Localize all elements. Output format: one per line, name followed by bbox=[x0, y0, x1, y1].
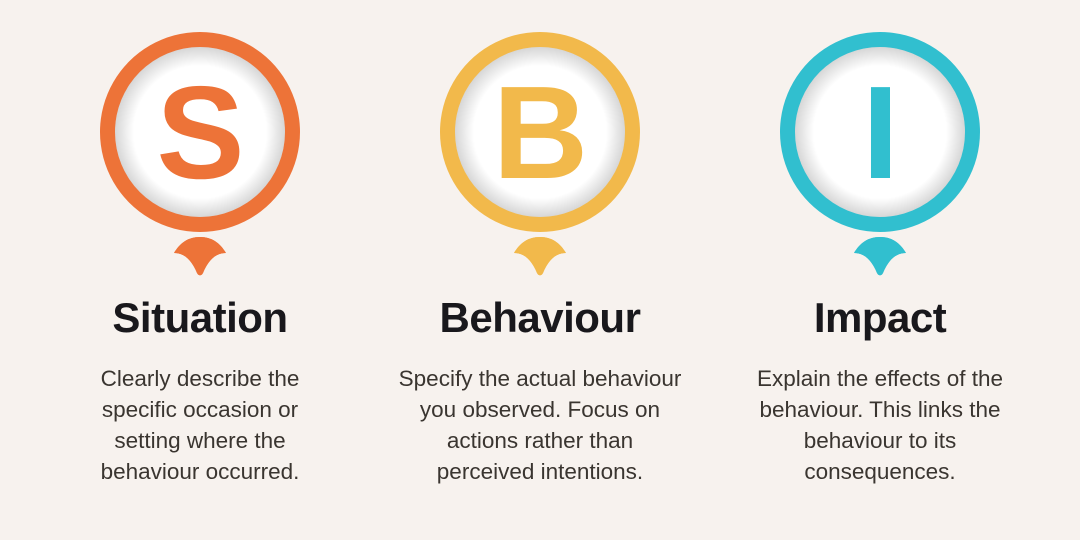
heading-behaviour: Behaviour bbox=[440, 297, 641, 339]
map-pin-marker-icon: S bbox=[80, 25, 320, 275]
map-pin-marker-icon: I bbox=[760, 25, 1000, 275]
pin-impact: I bbox=[760, 25, 1000, 275]
map-pin-marker-icon: B bbox=[420, 25, 660, 275]
column-impact: I Impact Explain the effects of the beha… bbox=[710, 0, 1050, 540]
body-situation: Clearly describe the specific occasion o… bbox=[74, 363, 326, 487]
body-impact: Explain the effects of the behaviour. Th… bbox=[735, 363, 1025, 487]
column-behaviour: B Behaviour Specify the actual behaviour… bbox=[370, 0, 710, 540]
pin-letter-situation: S bbox=[156, 59, 243, 206]
pin-situation: S bbox=[80, 25, 320, 275]
pin-behaviour: B bbox=[420, 25, 660, 275]
heading-impact: Impact bbox=[814, 297, 946, 339]
body-behaviour: Specify the actual behaviour you observe… bbox=[395, 363, 685, 487]
pin-letter-impact: I bbox=[862, 59, 898, 206]
column-situation: S Situation Clearly describe the specifi… bbox=[30, 0, 370, 540]
sbi-infographic: S Situation Clearly describe the specifi… bbox=[0, 0, 1080, 540]
pin-letter-behaviour: B bbox=[493, 59, 587, 206]
heading-situation: Situation bbox=[112, 297, 287, 339]
